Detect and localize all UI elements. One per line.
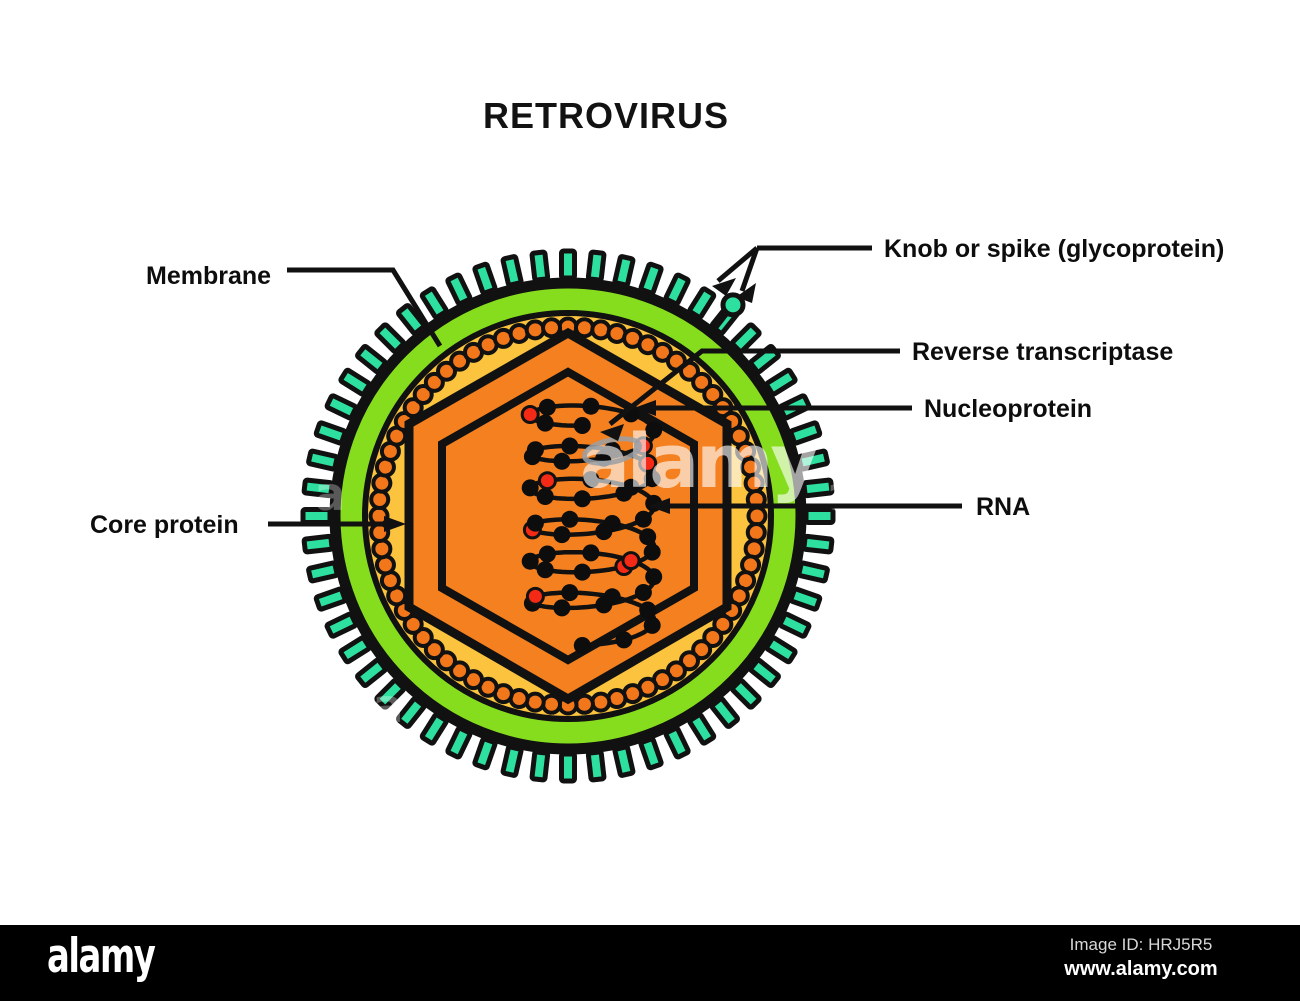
nucleoprotein-bead <box>639 528 656 545</box>
nucleoprotein-bead <box>561 438 578 455</box>
spike-knob <box>588 252 604 280</box>
label-reverse-transcriptase: Reverse transcriptase <box>912 338 1173 366</box>
retrovirus-diagram: RETROVIRUS aaaaaaaa alamy <box>0 0 1300 1001</box>
footer-credit: Image ID: HRJ5R5 www.alamy.com <box>1006 934 1276 982</box>
watermark-tile: a <box>768 257 799 311</box>
spike-knob <box>562 754 575 781</box>
alamy-logo: alamy <box>47 933 154 980</box>
spike-knob <box>615 256 634 285</box>
nucleoprotein-bead <box>645 568 662 585</box>
nucleoprotein-bead <box>644 617 661 634</box>
nucleoprotein-bead <box>574 637 591 654</box>
spike-knob <box>503 747 522 776</box>
spike-knob <box>503 256 522 285</box>
label-rna: RNA <box>976 493 1030 521</box>
nucleoprotein-bead <box>604 588 621 605</box>
nucleoprotein-bead <box>553 599 570 616</box>
nucleoprotein-bead <box>553 526 570 543</box>
page-title: RETROVIRUS <box>483 95 729 136</box>
core-protein-bead <box>371 491 388 508</box>
spike-knob <box>316 422 346 443</box>
watermark-tile: a <box>826 467 857 521</box>
nucleoprotein-bead <box>561 584 578 601</box>
spike-knob <box>665 274 688 304</box>
core-protein-bead <box>373 540 390 557</box>
spike-knob <box>532 252 548 280</box>
nucleoprotein-bead <box>527 441 544 458</box>
nucleoprotein-bead <box>604 515 621 532</box>
nucleoprotein-bead <box>639 602 656 619</box>
label-knob-or-spike: Knob or spike (glycoprotein) <box>884 235 1224 263</box>
label-nucleoprotein: Nucleoprotein <box>924 395 1092 423</box>
nucleoprotein-bead <box>539 546 556 563</box>
core-protein-bead <box>748 524 765 541</box>
nucleoprotein-bead <box>537 488 554 505</box>
spike-knob <box>304 536 332 552</box>
spike-knob <box>562 251 575 278</box>
watermark-tile: a <box>570 153 601 207</box>
nucleoprotein-bead <box>537 561 554 578</box>
spike-knob <box>326 395 356 418</box>
reverse-transcriptase-bead <box>522 407 538 423</box>
spike-knob <box>447 274 470 304</box>
core-protein-bead <box>576 696 593 713</box>
spike-knob <box>799 563 828 582</box>
spike-knob <box>640 738 661 768</box>
alamy-url-text: www.alamy.com <box>1006 956 1276 982</box>
spike-knob <box>326 613 356 636</box>
spike-knob <box>474 738 495 768</box>
reverse-transcriptase-bead <box>623 553 639 569</box>
spike-knob <box>474 264 495 294</box>
nucleoprotein-bead <box>615 631 632 648</box>
reverse-transcriptase-bead <box>527 588 543 604</box>
nucleoprotein-bead <box>539 399 556 416</box>
nucleoprotein-bead <box>561 511 578 528</box>
nucleoprotein-bead <box>582 544 599 561</box>
alamy-footer-bar: alamy Image ID: HRJ5R5 www.alamy.com <box>0 925 1300 1001</box>
diagram-page: RETROVIRUS aaaaaaaa alamy <box>0 0 1300 1001</box>
nucleoprotein-bead <box>582 398 599 415</box>
core-protein-bead <box>527 321 544 338</box>
label-membrane: Membrane <box>146 262 271 290</box>
spike-knob <box>804 536 832 552</box>
watermark-tile: a <box>314 467 345 521</box>
nucleoprotein-bead <box>644 544 661 561</box>
nucleoprotein-bead <box>635 584 652 601</box>
spike-knob <box>615 747 634 776</box>
spike-knob <box>308 563 337 582</box>
core-protein-bead <box>543 319 560 336</box>
watermark-tile: a <box>570 783 601 837</box>
nucleoprotein-bead <box>553 453 570 470</box>
nucleoprotein-bead <box>527 515 544 532</box>
core-protein-bead <box>749 508 766 525</box>
nucleoprotein-bead <box>574 564 591 581</box>
spike-knob <box>588 752 604 780</box>
watermark-tile: a <box>372 679 403 733</box>
image-id-text: Image ID: HRJ5R5 <box>1006 934 1276 956</box>
spike-knob <box>316 588 346 609</box>
spike-knob <box>665 728 688 758</box>
core-protein-bead <box>592 694 609 711</box>
spike-knob <box>532 752 548 780</box>
spike-knob <box>790 588 820 609</box>
core-protein-bead <box>543 696 560 713</box>
spike-knob <box>640 264 661 294</box>
spike-knob <box>447 728 470 758</box>
nucleoprotein-bead <box>635 511 652 528</box>
reverse-transcriptase-bead <box>539 473 555 489</box>
spike-knob <box>780 613 810 636</box>
nucleoprotein-bead <box>522 479 539 496</box>
label-core-protein: Core protein <box>90 511 239 539</box>
nucleoprotein-bead <box>522 553 539 570</box>
core-protein-bead <box>576 319 593 336</box>
watermark-tile: a <box>768 679 799 733</box>
